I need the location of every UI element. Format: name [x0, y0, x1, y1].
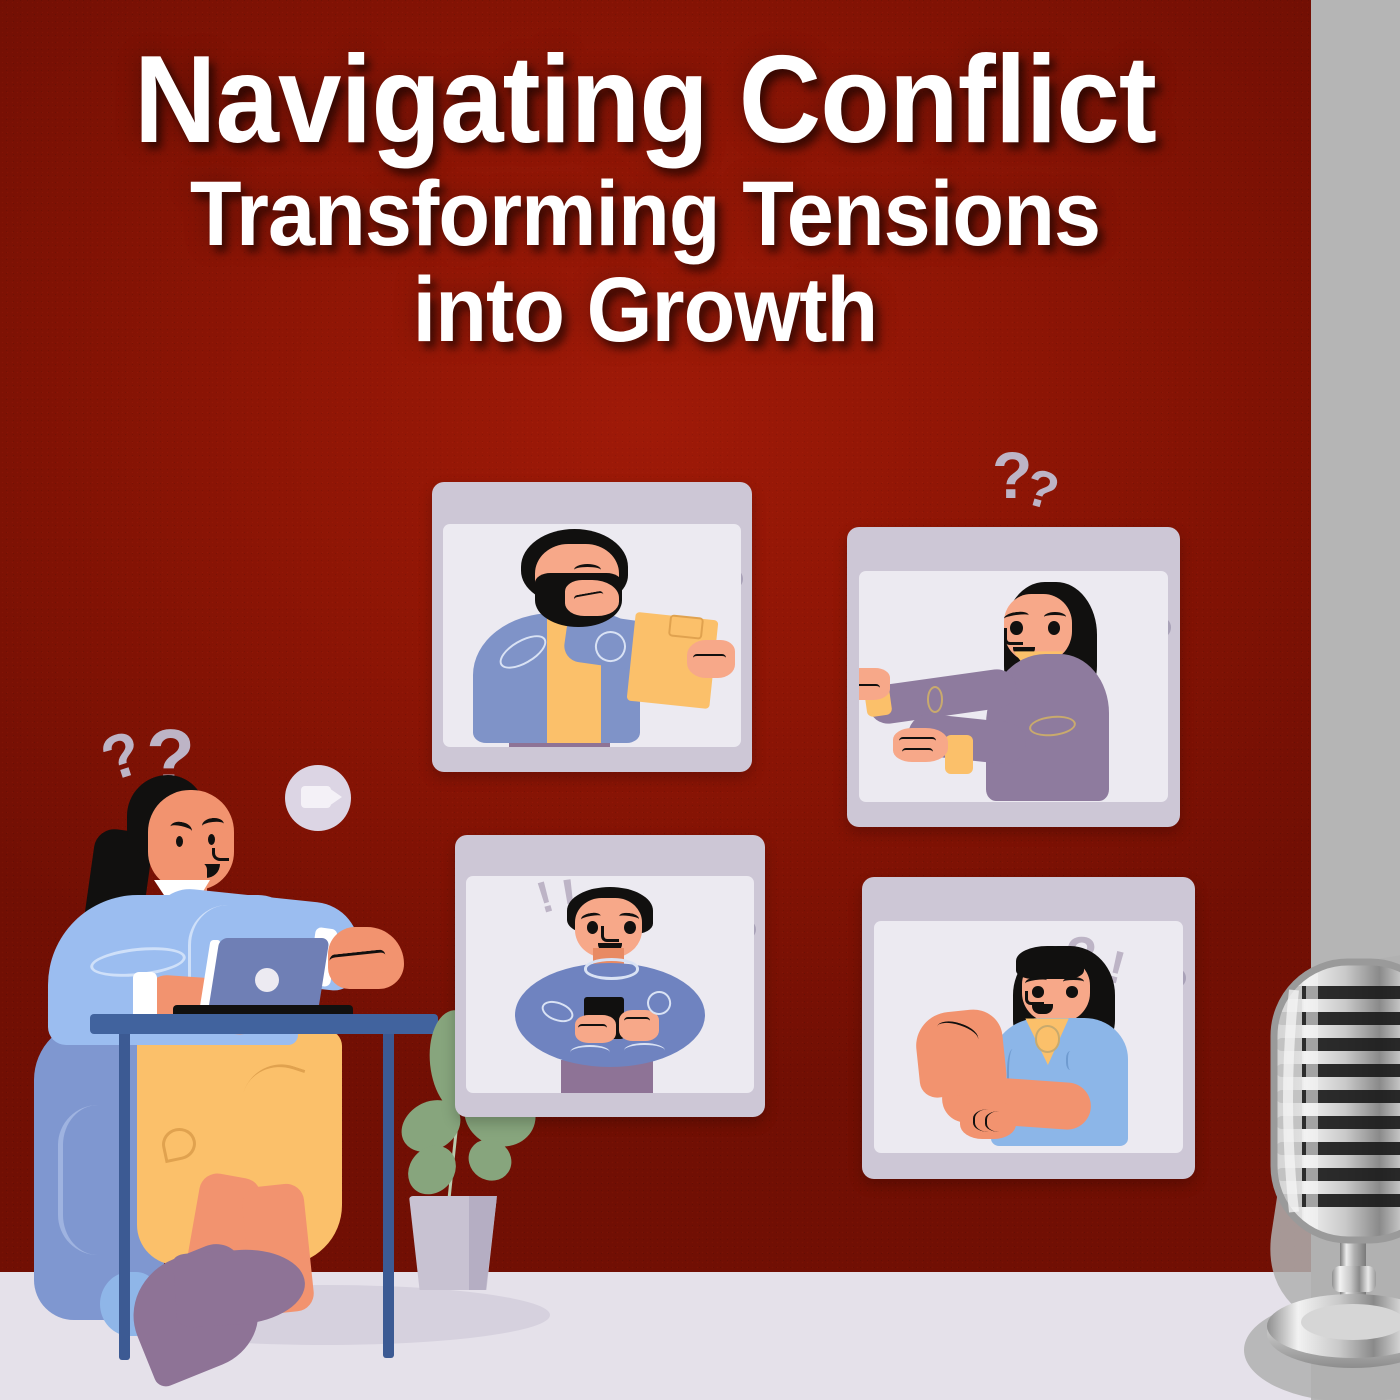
- woman-nose: [212, 848, 229, 861]
- woman2-cuff-lower: [945, 735, 973, 774]
- window-titlebar: [862, 877, 1195, 916]
- man3-hand-lines: [578, 1024, 607, 1033]
- cover-artwork: Navigating Conflict Transforming Tension…: [0, 0, 1400, 1400]
- woman4-upper-arm: [913, 1007, 1008, 1099]
- window-video-feed: ! !: [466, 876, 754, 1093]
- window-titlebar: [455, 835, 765, 872]
- video-camera-icon-lens: [329, 788, 342, 806]
- desk-top: [90, 1014, 438, 1034]
- title-line-1: Navigating Conflict: [52, 38, 1239, 162]
- window-video-feed: [859, 571, 1169, 802]
- video-camera-icon: [301, 786, 331, 808]
- video-window-bottom-right[interactable]: ? !: [862, 877, 1195, 1179]
- window-video-feed: ? !: [874, 921, 1184, 1154]
- woman4-blouse-seam-2: [1066, 1051, 1077, 1070]
- woman2-nose: [1004, 628, 1022, 645]
- man3-collar: [584, 958, 639, 979]
- woman-eye-right: [208, 834, 215, 845]
- window-titlebar: [847, 527, 1180, 566]
- woman2-hand-upper-lines: [859, 684, 881, 693]
- woman4-scarf-knot: [1035, 1025, 1061, 1052]
- man1-clipboard-clip: [668, 614, 704, 639]
- exclamation-mark-3a: !: [532, 876, 558, 921]
- woman2-hand-lower-lines: [899, 737, 936, 746]
- title-line-3: into Growth: [52, 264, 1239, 356]
- man3-hand-lines2: [624, 1017, 650, 1026]
- title-line-2: Transforming Tensions: [52, 168, 1239, 260]
- woman-eyebrow-right: [201, 817, 224, 833]
- laptop-logo: [255, 968, 279, 992]
- window-video-feed: [443, 524, 741, 747]
- woman4-eyebrow-right: [1063, 977, 1085, 987]
- woman4-nose: [1025, 991, 1043, 1006]
- desk-leg-right: [383, 1030, 394, 1358]
- woman-eye-left: [176, 836, 183, 847]
- video-window-top-left[interactable]: [432, 482, 752, 772]
- woman4-finger-2: [985, 1111, 1021, 1132]
- man1-hand-lines: [693, 654, 726, 665]
- desk-leg-left: [119, 1030, 130, 1360]
- retro-microphone: [1232, 930, 1400, 1400]
- man3-nose: [601, 926, 618, 942]
- video-window-top-right[interactable]: [847, 527, 1180, 827]
- video-window-bottom-left[interactable]: ! !: [455, 835, 765, 1117]
- title-block: Navigating Conflict Transforming Tension…: [0, 38, 1290, 356]
- woman2-sleeve-fold: [927, 686, 943, 713]
- man3-hand-right: [619, 1010, 659, 1040]
- woman4-hair-fringe: [1016, 946, 1084, 979]
- man3-hem-fold-right: [624, 1043, 664, 1058]
- woman2-hand-lower-lines2: [902, 748, 933, 757]
- woman2-eye-right: [1048, 621, 1060, 635]
- woman4-eye-right: [1066, 986, 1078, 998]
- window-titlebar: [432, 482, 752, 520]
